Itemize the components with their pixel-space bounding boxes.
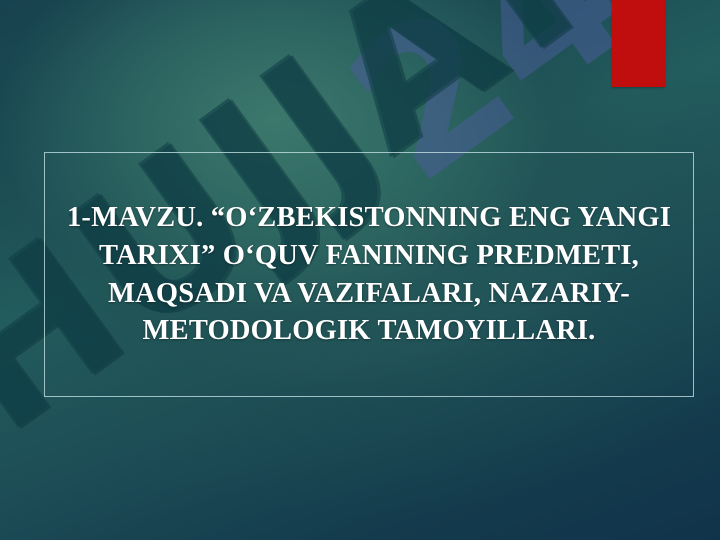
presentation-slide: 24 HUJJAT 1-MAVZU. “O‘ZBEKISTONNING ENG … (0, 0, 720, 540)
red-accent-rectangle (612, 0, 665, 87)
title-frame: 1-MAVZU. “O‘ZBEKISTONNING ENG YANGI TARI… (44, 152, 694, 397)
slide-title: 1-MAVZU. “O‘ZBEKISTONNING ENG YANGI TARI… (45, 199, 693, 351)
